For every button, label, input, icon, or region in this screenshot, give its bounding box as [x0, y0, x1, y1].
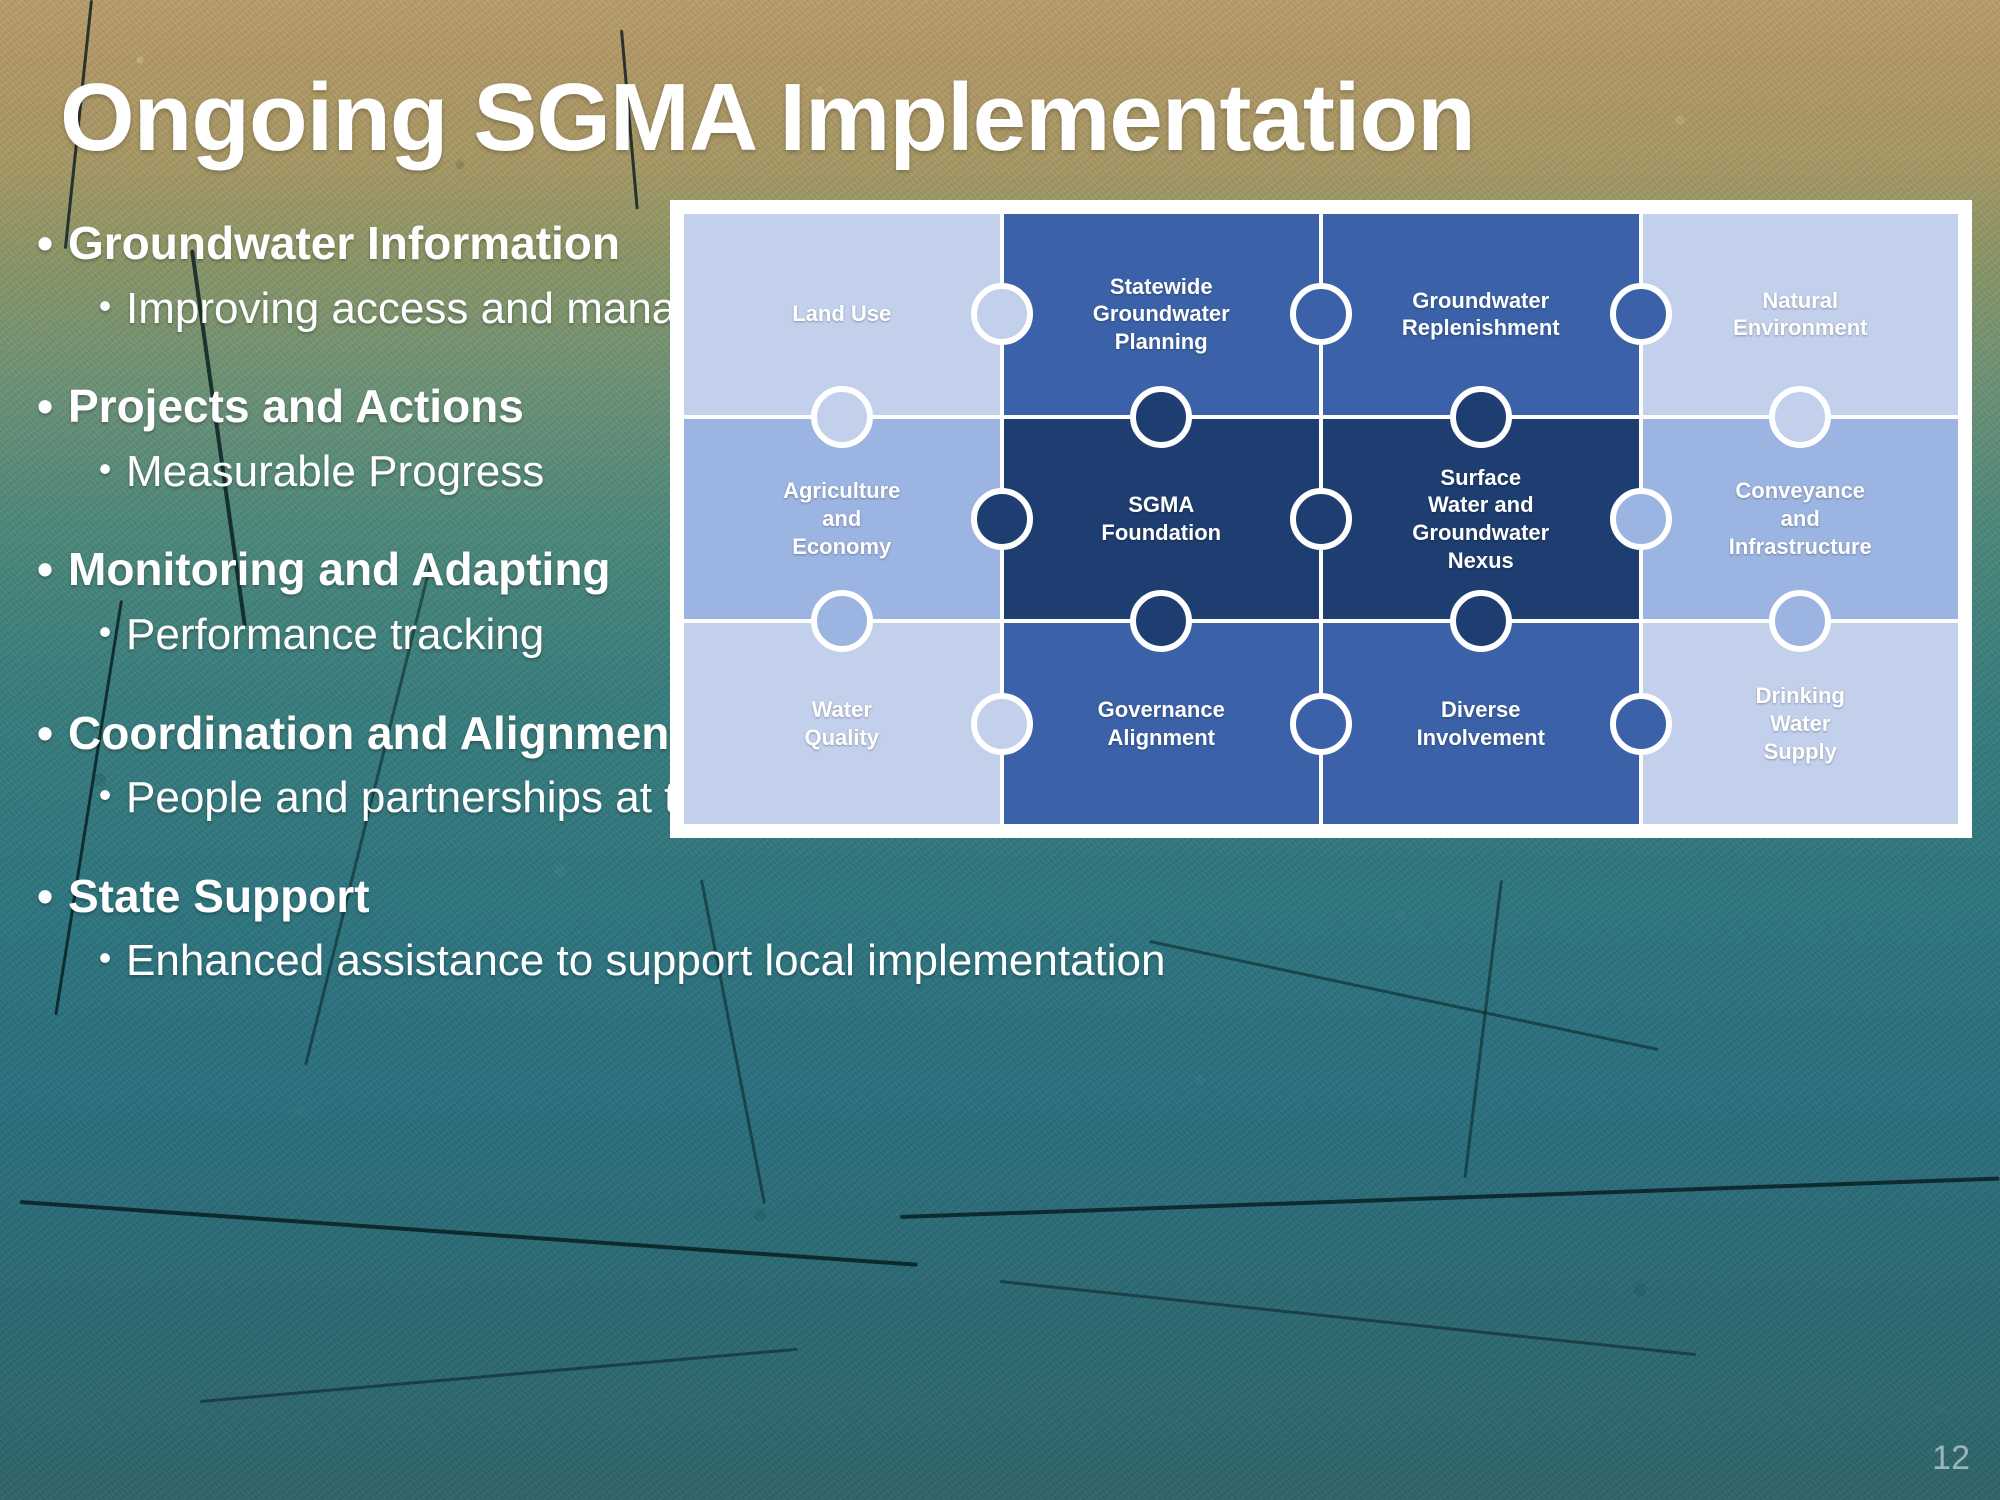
bullet-glyph: • [22, 708, 68, 760]
sub-bullet-text: Measurable Progress [126, 445, 544, 499]
bullet-glyph: • [84, 608, 126, 657]
puzzle-tab-right [1290, 693, 1352, 755]
puzzle-piece-statewide-groundwater-planning[interactable]: Statewide Groundwater Planning [1004, 214, 1320, 415]
puzzle-tab-bottom [1450, 590, 1512, 652]
bullet-glyph: • [84, 771, 126, 820]
puzzle-piece-label: SGMA Foundation [1093, 491, 1229, 546]
puzzle-piece-label: Statewide Groundwater Planning [1085, 273, 1238, 356]
bullet-glyph: • [22, 381, 68, 433]
puzzle-tab-bottom [811, 590, 873, 652]
puzzle-tab-bottom [1450, 386, 1512, 448]
puzzle-piece-label: Natural Environment [1725, 287, 1875, 342]
puzzle-piece-diverse-involvement[interactable]: Diverse Involvement [1323, 623, 1639, 824]
puzzle-tab-right [971, 488, 1033, 550]
bullet-heading: State Support [68, 871, 370, 923]
puzzle-piece-agriculture-and-economy[interactable]: Agriculture and Economy [684, 419, 1000, 620]
sgma-puzzle-diagram: Land UseStatewide Groundwater PlanningGr… [670, 200, 1972, 838]
bullet-glyph: • [22, 871, 68, 923]
puzzle-piece-label: Conveyance and Infrastructure [1721, 477, 1880, 560]
puzzle-piece-land-use[interactable]: Land Use [684, 214, 1000, 415]
bullet-heading: Projects and Actions [68, 381, 524, 433]
puzzle-tab-bottom [811, 386, 873, 448]
puzzle-piece-groundwater-replenishment[interactable]: Groundwater Replenishment [1323, 214, 1639, 415]
puzzle-piece-label: Land Use [784, 300, 899, 328]
bullet-state-support: • State Support [22, 871, 1272, 923]
sub-bullet-text: Performance tracking [126, 608, 544, 662]
bullet-glyph: • [84, 445, 126, 494]
puzzle-tab-right [1290, 488, 1352, 550]
bullet-glyph: • [22, 218, 68, 270]
puzzle-tab-bottom [1769, 386, 1831, 448]
puzzle-tab-bottom [1130, 386, 1192, 448]
puzzle-piece-sgma-foundation[interactable]: SGMA Foundation [1004, 419, 1320, 620]
bullet-heading: Groundwater Information [68, 218, 620, 270]
bullet-glyph: • [84, 282, 126, 331]
puzzle-piece-natural-environment[interactable]: Natural Environment [1643, 214, 1959, 415]
puzzle-tab-right [1290, 283, 1352, 345]
puzzle-grid: Land UseStatewide Groundwater PlanningGr… [684, 214, 1958, 824]
puzzle-tab-right [971, 693, 1033, 755]
puzzle-piece-water-quality[interactable]: Water Quality [684, 623, 1000, 824]
bullet-heading: Monitoring and Adapting [68, 544, 611, 596]
puzzle-piece-governance-alignment[interactable]: Governance Alignment [1004, 623, 1320, 824]
page-title: Ongoing SGMA Implementation [60, 70, 1960, 166]
puzzle-piece-label: Agriculture and Economy [775, 477, 908, 560]
puzzle-piece-label: Governance Alignment [1090, 696, 1233, 751]
puzzle-piece-surface-water-and-groundwater-nexus[interactable]: Surface Water and Groundwater Nexus [1323, 419, 1639, 620]
puzzle-tab-right [1610, 283, 1672, 345]
sub-bullet-text: Enhanced assistance to support local imp… [126, 934, 1166, 988]
puzzle-piece-label: Water Quality [796, 696, 887, 751]
slide-number: 12 [1932, 1439, 1970, 1478]
sub-bullet-enhanced-assistance: • Enhanced assistance to support local i… [22, 934, 1272, 988]
puzzle-piece-label: Drinking Water Supply [1748, 682, 1853, 765]
puzzle-piece-label: Groundwater Replenishment [1394, 287, 1568, 342]
puzzle-tab-right [1610, 488, 1672, 550]
bullet-heading: Coordination and Alignment [68, 708, 685, 760]
puzzle-piece-label: Diverse Involvement [1409, 696, 1553, 751]
puzzle-piece-conveyance-and-infrastructure[interactable]: Conveyance and Infrastructure [1643, 419, 1959, 620]
slide-canvas: Ongoing SGMA Implementation • Groundwate… [0, 0, 2000, 1500]
bullet-glyph: • [22, 544, 68, 596]
bullet-glyph: • [84, 934, 126, 983]
puzzle-tab-right [1610, 693, 1672, 755]
puzzle-tab-right [971, 283, 1033, 345]
puzzle-piece-label: Surface Water and Groundwater Nexus [1404, 464, 1557, 575]
puzzle-piece-drinking-water-supply[interactable]: Drinking Water Supply [1643, 623, 1959, 824]
